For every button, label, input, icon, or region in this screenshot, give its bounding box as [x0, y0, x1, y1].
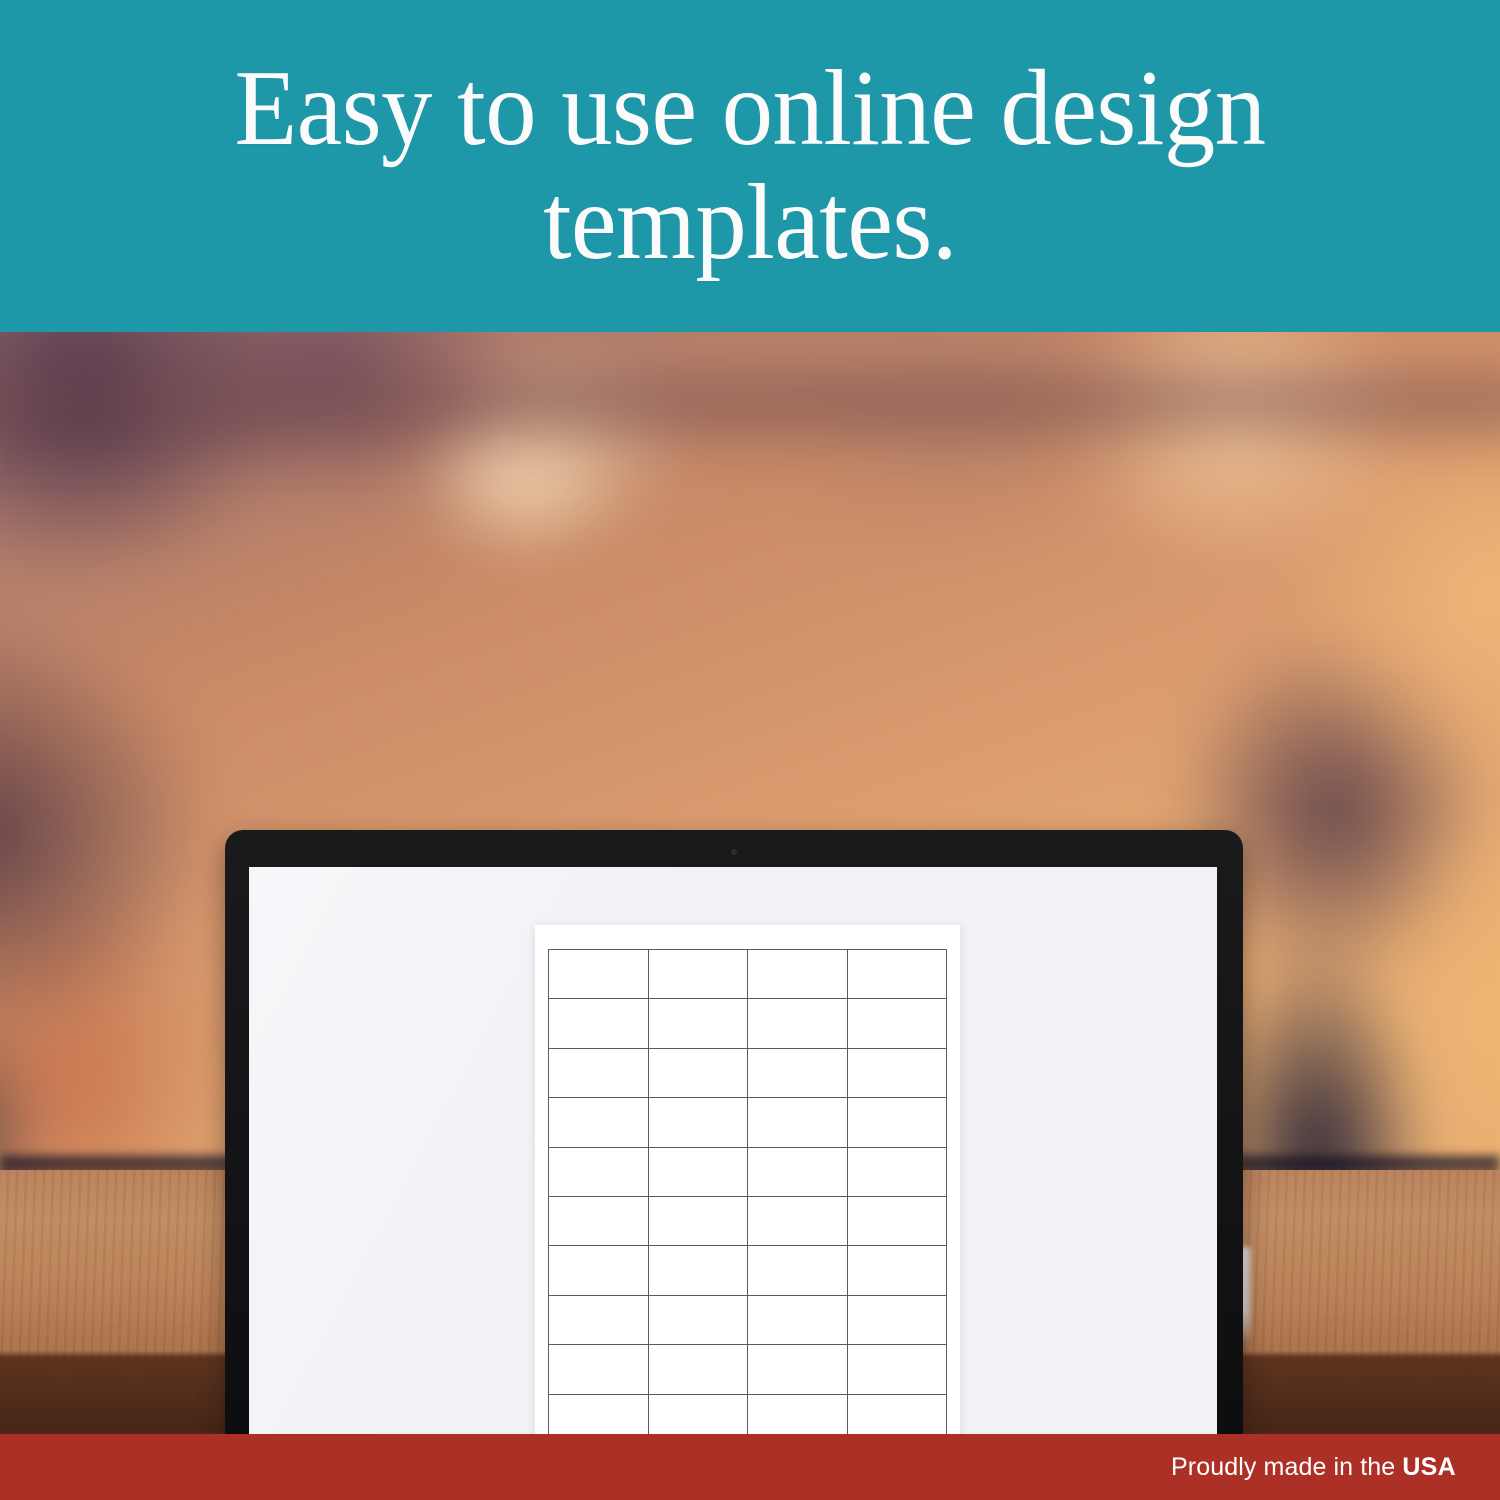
label-cell[interactable]: [549, 1296, 649, 1345]
footer-banner: Proudly made in the USA: [0, 1434, 1500, 1500]
template-document-page[interactable]: ***PLEASE READ INSTRUCTIONS FOR HOW TO R…: [535, 925, 960, 1434]
footer-lead-text: Proudly made in the: [1171, 1453, 1402, 1481]
label-cell[interactable]: [549, 950, 649, 999]
promo-image-stage: Easy to use online design templates.: [0, 0, 1500, 1500]
label-cell[interactable]: [549, 1246, 649, 1295]
label-cell[interactable]: [549, 1049, 649, 1098]
label-cell[interactable]: [848, 950, 948, 999]
label-cell[interactable]: [649, 1345, 749, 1394]
label-cell[interactable]: [748, 999, 848, 1048]
background-shelf-blur: [0, 372, 1500, 442]
label-cell[interactable]: [748, 1246, 848, 1295]
label-cell[interactable]: [649, 1246, 749, 1295]
label-cell[interactable]: [748, 1049, 848, 1098]
label-cell[interactable]: [549, 999, 649, 1048]
label-cell[interactable]: [649, 1197, 749, 1246]
label-cell[interactable]: [549, 1345, 649, 1394]
webcam-icon: [731, 849, 737, 855]
label-cell[interactable]: [649, 1098, 749, 1147]
label-cell[interactable]: [549, 1148, 649, 1197]
label-cell[interactable]: [748, 1148, 848, 1197]
label-cell[interactable]: [748, 1296, 848, 1345]
header-banner: Easy to use online design templates.: [0, 0, 1500, 332]
label-cell[interactable]: [748, 1345, 848, 1394]
label-cell[interactable]: [848, 1049, 948, 1098]
label-cell[interactable]: [549, 1197, 649, 1246]
label-template-grid[interactable]: [548, 949, 947, 1434]
label-cell[interactable]: [848, 1345, 948, 1394]
label-cell[interactable]: [848, 1246, 948, 1295]
label-cell[interactable]: [649, 1148, 749, 1197]
header-title: Easy to use online design templates.: [228, 52, 1273, 281]
label-cell[interactable]: [848, 1148, 948, 1197]
label-cell[interactable]: [748, 1098, 848, 1147]
footer-usa-text: USA: [1402, 1453, 1456, 1481]
label-cell[interactable]: [649, 1296, 749, 1345]
label-cell[interactable]: [649, 950, 749, 999]
label-cell[interactable]: [848, 1098, 948, 1147]
label-cell[interactable]: [549, 1098, 649, 1147]
label-cell[interactable]: [848, 1197, 948, 1246]
label-cell[interactable]: [549, 1395, 649, 1434]
label-cell[interactable]: [848, 1296, 948, 1345]
label-cell[interactable]: [649, 1395, 749, 1434]
label-cell[interactable]: [748, 1197, 848, 1246]
label-cell[interactable]: [748, 1395, 848, 1434]
label-cell[interactable]: [848, 1395, 948, 1434]
label-cell[interactable]: [848, 999, 948, 1048]
label-cell[interactable]: [748, 950, 848, 999]
product-photo-scene: ***PLEASE READ INSTRUCTIONS FOR HOW TO R…: [0, 332, 1500, 1434]
made-in-usa-label: Proudly made in the USA: [1171, 1453, 1456, 1482]
label-cell[interactable]: [649, 999, 749, 1048]
label-cell[interactable]: [649, 1049, 749, 1098]
